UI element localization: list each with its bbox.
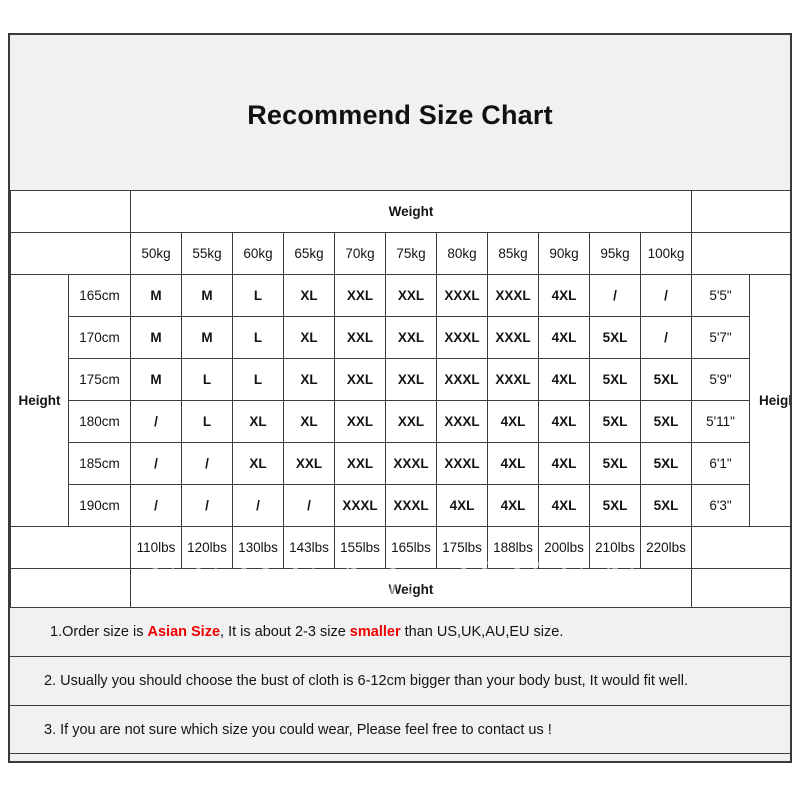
height-cm-4: 185cm xyxy=(69,443,131,485)
notes-section: 1.Order size is Asian Size, It is about … xyxy=(10,607,790,754)
size-cell-r3-c4: XXL xyxy=(335,401,386,443)
height-inch-1: 5'7" xyxy=(692,317,750,359)
size-cell-r4-c0: / xyxy=(131,443,182,485)
size-cell-r5-c10: 5XL xyxy=(641,485,692,527)
weight-lbs-4: 155lbs xyxy=(335,527,386,569)
size-cell-r3-c2: XL xyxy=(233,401,284,443)
size-cell-r4-c8: 4XL xyxy=(539,443,590,485)
size-cell-r3-c8: 4XL xyxy=(539,401,590,443)
size-cell-r5-c1: / xyxy=(182,485,233,527)
size-cell-r4-c10: 5XL xyxy=(641,443,692,485)
size-cell-r0-c0: M xyxy=(131,275,182,317)
weight-lbs-8: 200lbs xyxy=(539,527,590,569)
size-cell-r5-c2: / xyxy=(233,485,284,527)
size-cell-r1-c4: XXL xyxy=(335,317,386,359)
height-inch-3: 5'11" xyxy=(692,401,750,443)
size-cell-r0-c3: XL xyxy=(284,275,335,317)
size-cell-r3-c10: 5XL xyxy=(641,401,692,443)
note-asian-size: 1.Order size is Asian Size, It is about … xyxy=(10,607,790,656)
note1-highlight-smaller: smaller xyxy=(350,624,401,640)
size-cell-r2-c3: XL xyxy=(284,359,335,401)
size-cell-r0-c2: L xyxy=(233,275,284,317)
size-cell-r2-c7: XXXL xyxy=(488,359,539,401)
size-cell-r4-c2: XL xyxy=(233,443,284,485)
lbs-row-blank-right xyxy=(692,527,792,569)
height-cm-1: 170cm xyxy=(69,317,131,359)
weight-header-bottom: Weight xyxy=(131,569,692,611)
weight-kg-9: 95kg xyxy=(590,233,641,275)
size-cell-r5-c0: / xyxy=(131,485,182,527)
weight-footer-blank-right xyxy=(692,569,792,611)
size-cell-r3-c1: L xyxy=(182,401,233,443)
size-cell-r2-c6: XXXL xyxy=(437,359,488,401)
size-cell-r5-c8: 4XL xyxy=(539,485,590,527)
size-cell-r4-c5: XXXL xyxy=(386,443,437,485)
corner-blank-topright xyxy=(692,191,792,233)
size-cell-r1-c9: 5XL xyxy=(590,317,641,359)
note1-part-a: 1.Order size is xyxy=(50,624,148,640)
weight-kg-row: 50kg55kg60kg65kg70kg75kg80kg85kg90kg95kg… xyxy=(11,233,793,275)
weight-kg-0: 50kg xyxy=(131,233,182,275)
size-cell-r0-c5: XXL xyxy=(386,275,437,317)
note1-part-b: , It is about 2-3 size xyxy=(220,624,350,640)
size-cell-r1-c5: XXL xyxy=(386,317,437,359)
height-inch-2: 5'9" xyxy=(692,359,750,401)
weight-lbs-6: 175lbs xyxy=(437,527,488,569)
size-cell-r3-c9: 5XL xyxy=(590,401,641,443)
size-cell-r4-c9: 5XL xyxy=(590,443,641,485)
size-cell-r2-c8: 4XL xyxy=(539,359,590,401)
height-label-left: Height xyxy=(11,275,69,527)
size-cell-r1-c7: XXXL xyxy=(488,317,539,359)
size-cell-r2-c4: XXL xyxy=(335,359,386,401)
weight-lbs-10: 220lbs xyxy=(641,527,692,569)
size-cell-r0-c8: 4XL xyxy=(539,275,590,317)
weight-lbs-9: 210lbs xyxy=(590,527,641,569)
size-cell-r3-c7: 4XL xyxy=(488,401,539,443)
note-contact-us: 3. If you are not sure which size you co… xyxy=(10,705,790,754)
size-cell-r0-c7: XXXL xyxy=(488,275,539,317)
height-cm-3: 180cm xyxy=(69,401,131,443)
weight-kg-8: 90kg xyxy=(539,233,590,275)
size-cell-r0-c4: XXL xyxy=(335,275,386,317)
weight-kg-4: 70kg xyxy=(335,233,386,275)
height-label-right: Height xyxy=(750,275,792,527)
weight-lbs-1: 120lbs xyxy=(182,527,233,569)
height-inch-4: 6'1" xyxy=(692,443,750,485)
size-cell-r4-c4: XXL xyxy=(335,443,386,485)
size-cell-r2-c10: 5XL xyxy=(641,359,692,401)
height-inch-5: 6'3" xyxy=(692,485,750,527)
weight-footer-blank-left xyxy=(11,569,131,611)
weight-lbs-3: 143lbs xyxy=(284,527,335,569)
size-cell-r2-c9: 5XL xyxy=(590,359,641,401)
size-table-body: Weight50kg55kg60kg65kg70kg75kg80kg85kg90… xyxy=(11,191,793,611)
size-cell-r5-c4: XXXL xyxy=(335,485,386,527)
size-cell-r0-c10: / xyxy=(641,275,692,317)
corner-blank-topleft xyxy=(11,191,131,233)
chart-frame: Recommend Size Chart ESDEAL HYSN Weight5… xyxy=(8,33,792,763)
size-cell-r0-c6: XXXL xyxy=(437,275,488,317)
weight-lbs-2: 130lbs xyxy=(233,527,284,569)
weight-kg-2: 60kg xyxy=(233,233,284,275)
weight-kg-1: 55kg xyxy=(182,233,233,275)
size-cell-r1-c3: XL xyxy=(284,317,335,359)
size-cell-r1-c10: / xyxy=(641,317,692,359)
size-cell-r1-c8: 4XL xyxy=(539,317,590,359)
table-row: 175cmMLLXLXXLXXLXXXLXXXL4XL5XL5XL5'9" xyxy=(11,359,793,401)
weight-kg-3: 65kg xyxy=(284,233,335,275)
size-cell-r5-c9: 5XL xyxy=(590,485,641,527)
table-row: 170cmMMLXLXXLXXLXXXLXXXL4XL5XL/5'7" xyxy=(11,317,793,359)
lbs-row-blank-left xyxy=(11,527,131,569)
size-cell-r5-c5: XXXL xyxy=(386,485,437,527)
weight-lbs-7: 188lbs xyxy=(488,527,539,569)
weight-header-top: Weight xyxy=(131,191,692,233)
note-bust-advice: 2. Usually you should choose the bust of… xyxy=(10,656,790,705)
size-cell-r0-c9: / xyxy=(590,275,641,317)
size-cell-r1-c6: XXXL xyxy=(437,317,488,359)
size-cell-r0-c1: M xyxy=(182,275,233,317)
kg-row-blank-right xyxy=(692,233,792,275)
size-cell-r2-c0: M xyxy=(131,359,182,401)
height-cm-2: 175cm xyxy=(69,359,131,401)
size-cell-r1-c1: M xyxy=(182,317,233,359)
weight-header-row: Weight xyxy=(11,191,793,233)
weight-kg-10: 100kg xyxy=(641,233,692,275)
note1-highlight-asian-size: Asian Size xyxy=(148,624,221,640)
size-cell-r4-c3: XXL xyxy=(284,443,335,485)
size-cell-r2-c5: XXL xyxy=(386,359,437,401)
kg-row-blank-left xyxy=(11,233,131,275)
table-row: 180cm/LXLXLXXLXXLXXXL4XL4XL5XL5XL5'11" xyxy=(11,401,793,443)
weight-footer-row: Weight xyxy=(11,569,793,611)
weight-lbs-0: 110lbs xyxy=(131,527,182,569)
size-cell-r5-c3: / xyxy=(284,485,335,527)
size-table: Weight50kg55kg60kg65kg70kg75kg80kg85kg90… xyxy=(10,190,792,611)
height-cm-5: 190cm xyxy=(69,485,131,527)
size-cell-r4-c7: 4XL xyxy=(488,443,539,485)
size-cell-r3-c3: XL xyxy=(284,401,335,443)
size-cell-r2-c1: L xyxy=(182,359,233,401)
table-row: 190cm////XXXLXXXL4XL4XL4XL5XL5XL6'3" xyxy=(11,485,793,527)
size-cell-r4-c6: XXXL xyxy=(437,443,488,485)
size-cell-r3-c0: / xyxy=(131,401,182,443)
size-cell-r2-c2: L xyxy=(233,359,284,401)
size-cell-r1-c2: L xyxy=(233,317,284,359)
height-inch-0: 5'5" xyxy=(692,275,750,317)
weight-kg-5: 75kg xyxy=(386,233,437,275)
height-cm-0: 165cm xyxy=(69,275,131,317)
size-cell-r3-c6: XXXL xyxy=(437,401,488,443)
note1-part-c: than US,UK,AU,EU size. xyxy=(401,624,564,640)
size-table-container: ESDEAL HYSN Weight50kg55kg60kg65kg70kg75… xyxy=(10,190,790,611)
size-cell-r5-c6: 4XL xyxy=(437,485,488,527)
table-row: 185cm//XLXXLXXLXXXLXXXL4XL4XL5XL5XL6'1" xyxy=(11,443,793,485)
weight-lbs-row: 110lbs120lbs130lbs143lbs155lbs165lbs175l… xyxy=(11,527,793,569)
size-cell-r1-c0: M xyxy=(131,317,182,359)
size-cell-r4-c1: / xyxy=(182,443,233,485)
weight-kg-7: 85kg xyxy=(488,233,539,275)
size-cell-r5-c7: 4XL xyxy=(488,485,539,527)
table-row: Height165cmMMLXLXXLXXLXXXLXXXL4XL//5'5"H… xyxy=(11,275,793,317)
weight-lbs-5: 165lbs xyxy=(386,527,437,569)
weight-kg-6: 80kg xyxy=(437,233,488,275)
page-title: Recommend Size Chart xyxy=(10,35,790,131)
size-cell-r3-c5: XXL xyxy=(386,401,437,443)
